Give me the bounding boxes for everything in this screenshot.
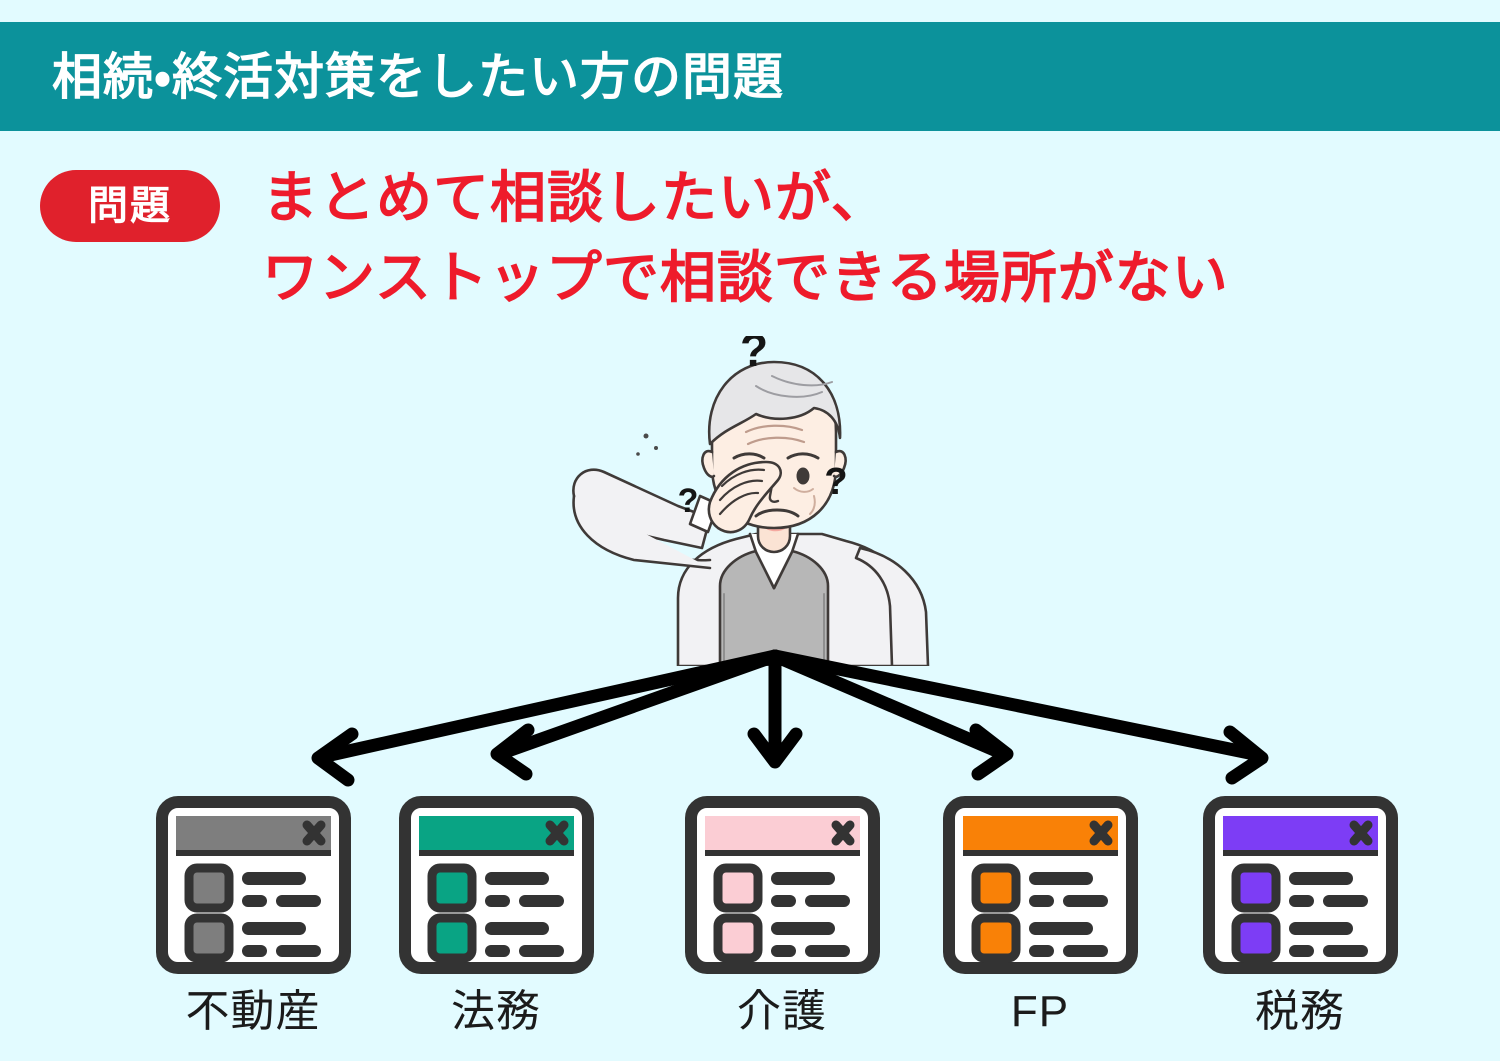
browser-window-icon xyxy=(156,796,351,974)
question-mark-icon: ? xyxy=(740,336,768,376)
problem-badge-label: 問題 xyxy=(88,186,172,226)
service-card-label: 税務 xyxy=(1255,990,1345,1034)
slide-canvas: 相続・終活対策をしたい方の問題 問題 まとめて相談したいが、 ワンストップで相談… xyxy=(0,0,1500,1061)
headline-line-2: ワンストップで相談できる場所がない xyxy=(262,238,1229,318)
browser-window-icon xyxy=(1203,796,1398,974)
service-card-label: 介護 xyxy=(737,990,827,1034)
service-card-legal[interactable]: 法務 xyxy=(381,796,611,1034)
service-card-care[interactable]: 介護 xyxy=(667,796,897,1034)
problem-statement: 問題 まとめて相談したいが、 ワンストップで相談できる場所がない xyxy=(0,158,1500,338)
service-card-fp[interactable]: FP xyxy=(925,796,1155,1034)
browser-window-icon xyxy=(399,796,594,974)
arrow-to-care xyxy=(754,656,796,762)
headline: まとめて相談したいが、 ワンストップで相談できる場所がない xyxy=(262,158,1229,317)
service-card-tax[interactable]: 税務 xyxy=(1185,796,1415,1034)
service-card-label: 法務 xyxy=(451,990,541,1034)
question-mark-icon: ? xyxy=(678,482,699,520)
service-card-row: 不動産 法務 xyxy=(0,796,1500,1061)
service-card-label: FP xyxy=(1011,990,1069,1034)
browser-window-icon xyxy=(943,796,1138,974)
question-mark-icon: ? xyxy=(824,461,847,503)
arrow-to-tax xyxy=(775,656,1262,778)
worried-elderly-man-illustration: ? ? ? xyxy=(560,336,990,666)
problem-badge: 問題 xyxy=(40,170,220,242)
headline-line-1: まとめて相談したいが、 xyxy=(262,166,888,229)
service-card-real-estate[interactable]: 不動産 xyxy=(138,796,368,1034)
service-card-label: 不動産 xyxy=(186,990,321,1034)
arrow-fan xyxy=(0,640,1500,790)
page-title: 相続・終活対策をしたい方の問題 xyxy=(52,52,784,102)
browser-window-icon xyxy=(685,796,880,974)
header-bar: 相続・終活対策をしたい方の問題 xyxy=(0,22,1500,131)
